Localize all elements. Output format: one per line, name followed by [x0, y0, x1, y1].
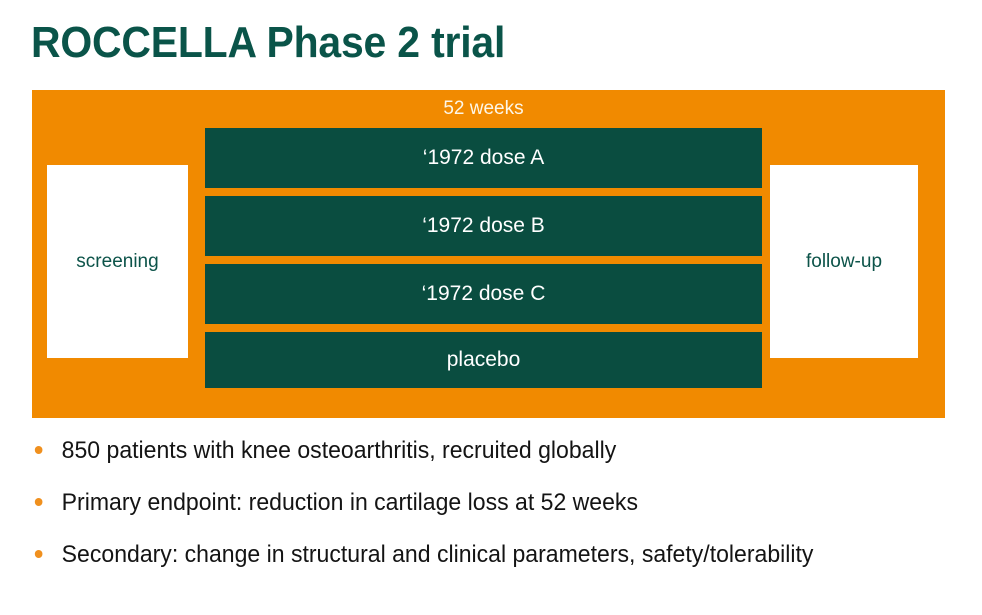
duration-label: 52 weeks [205, 96, 762, 122]
list-item-text: Primary endpoint: reduction in cartilage… [62, 477, 638, 529]
bullet-list: 850 patients with knee osteoarthritis, r… [30, 424, 980, 580]
list-item-text: 850 patients with knee osteoarthritis, r… [62, 425, 617, 477]
list-item: Primary endpoint: reduction in cartilage… [30, 476, 942, 528]
page-title: ROCCELLA Phase 2 trial [31, 16, 868, 70]
treatment-arm-label: ‘1972 dose A [423, 146, 544, 170]
treatment-arm-label: ‘1972 dose C [422, 282, 546, 306]
treatment-arm-label: placebo [447, 348, 521, 372]
treatment-arm-bar: ‘1972 dose B [205, 196, 762, 256]
bullet-dot-icon [35, 550, 43, 558]
screening-label: screening [76, 251, 158, 273]
screening-box: screening [47, 165, 188, 358]
list-item: Secondary: change in structural and clin… [30, 528, 942, 580]
treatment-arm-bar: ‘1972 dose C [205, 264, 762, 324]
bullet-dot-icon [35, 446, 43, 454]
followup-box: follow-up [770, 165, 918, 358]
bullet-dot-icon [35, 498, 43, 506]
treatment-arm-bar: ‘1972 dose A [205, 128, 762, 188]
list-item: 850 patients with knee osteoarthritis, r… [30, 424, 942, 476]
treatment-arm-label: ‘1972 dose B [422, 214, 545, 238]
list-item-text: Secondary: change in structural and clin… [62, 529, 814, 581]
treatment-arm-bar: placebo [205, 332, 762, 388]
followup-label: follow-up [806, 251, 882, 273]
